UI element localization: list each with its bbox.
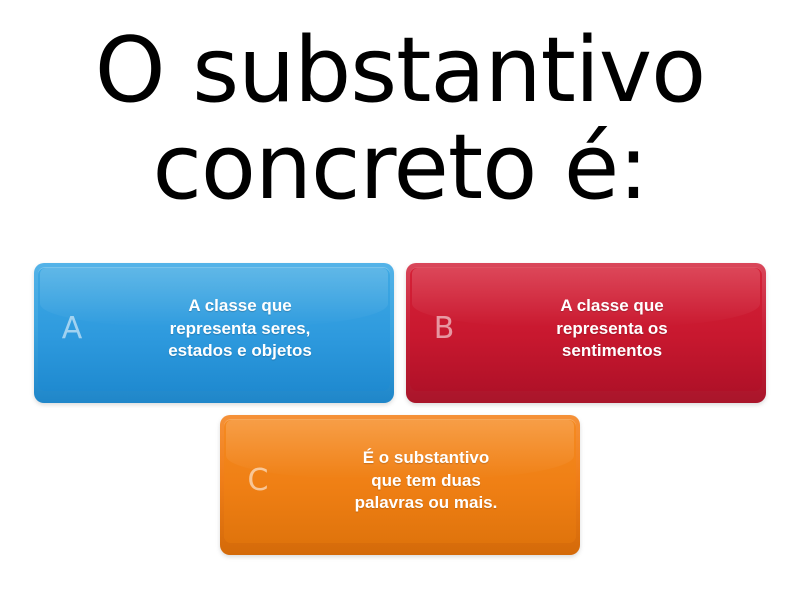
answer-letter-a: A: [40, 314, 104, 344]
answer-text-b: A classe que representa os sentimentos: [476, 295, 760, 364]
answer-letter-b: B: [412, 314, 476, 344]
answer-text-a: A classe que representa seres, estados e…: [104, 295, 388, 364]
answer-option-c[interactable]: C É o substantivo que tem duas palavras …: [220, 415, 580, 555]
question-title: O substantivo concreto é:: [30, 22, 770, 216]
quiz-card: O substantivo concreto é: A A classe que…: [0, 0, 800, 600]
answer-options: A A classe que representa seres, estados…: [0, 263, 800, 555]
answer-row: A A classe que representa seres, estados…: [0, 263, 800, 403]
answer-row: C É o substantivo que tem duas palavras …: [0, 415, 800, 555]
answer-option-a[interactable]: A A classe que representa seres, estados…: [34, 263, 394, 403]
answer-letter-c: C: [226, 466, 290, 496]
answer-option-b[interactable]: B A classe que representa os sentimentos: [406, 263, 766, 403]
answer-text-c: É o substantivo que tem duas palavras ou…: [290, 447, 574, 516]
